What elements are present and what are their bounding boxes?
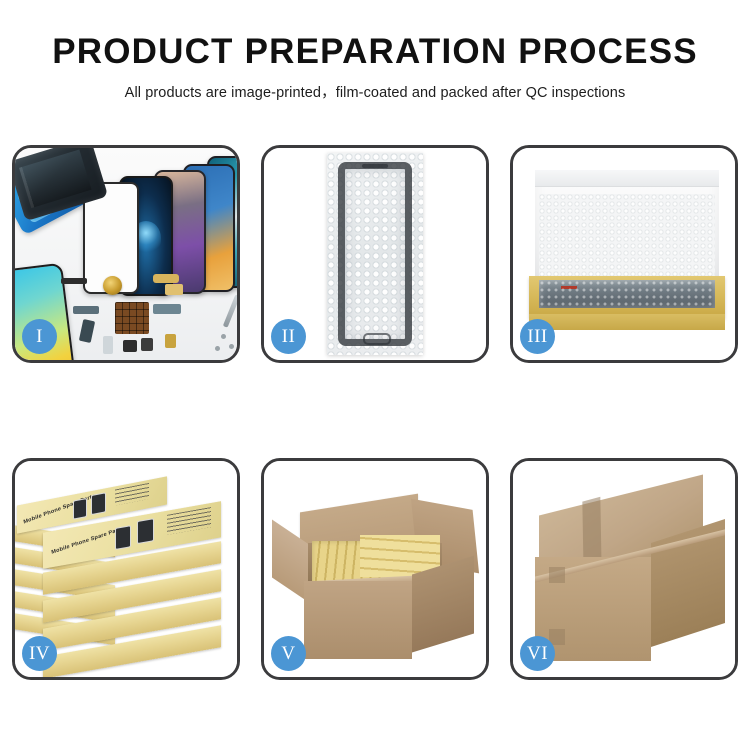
home-button-icon [363,333,391,345]
gold-coil-part [103,276,122,295]
process-steps-grid: I II [12,145,738,680]
connector-part-h [103,336,113,354]
page-title: PRODUCT PREPARATION PROCESS [0,34,750,71]
box-phone-graphic [137,518,154,544]
product-preparation-page: PRODUCT PREPARATION PROCESS All products… [0,0,750,750]
chip-grid-part [115,302,149,334]
phone-screen-outline [338,162,412,346]
process-step-4: Mobile Phone Spare Parts Mobile Phone Sp… [12,458,240,680]
wrapped-screen-in-box [539,280,715,308]
speaker-bar-part [61,278,87,284]
step-badge-5: V [271,636,306,671]
flex-cable-a [153,274,179,283]
flex-cable-b [165,284,183,295]
red-label-strip [561,286,577,289]
page-subtitle: All products are image-printed，film-coat… [0,81,750,102]
mailer-box-tray [529,276,725,318]
header: PRODUCT PREPARATION PROCESS All products… [0,34,750,102]
box-phone-graphic [91,492,106,515]
bubble-wrap-sheet [327,153,423,355]
step-badge-3: III [520,319,555,354]
process-step-3: III [510,145,738,363]
step-badge-6: VI [520,636,555,671]
process-step-6: VI [510,458,738,680]
screw-icon [215,346,220,351]
process-step-5: V [261,458,489,680]
screw-icon [221,334,226,339]
box-phone-graphic [115,525,131,550]
connector-part-i [165,334,176,348]
process-step-1: I [12,145,240,363]
mailer-box-front-panel [529,314,725,330]
small-module-g [141,338,153,351]
process-step-2: II [261,145,489,363]
carton-front-panel [304,581,412,659]
step-badge-1: I [22,319,57,354]
carton-tape-patch [549,567,565,583]
earpiece-slot-icon [362,164,388,168]
foam-padding [539,194,715,280]
flex-cable-c [73,306,99,314]
screw-icon [229,344,234,349]
step-badge-4: IV [22,636,57,671]
step-badge-2: II [271,319,306,354]
box-phone-graphic [73,498,87,520]
flex-cable-e [153,304,181,314]
small-module-f [123,340,137,352]
